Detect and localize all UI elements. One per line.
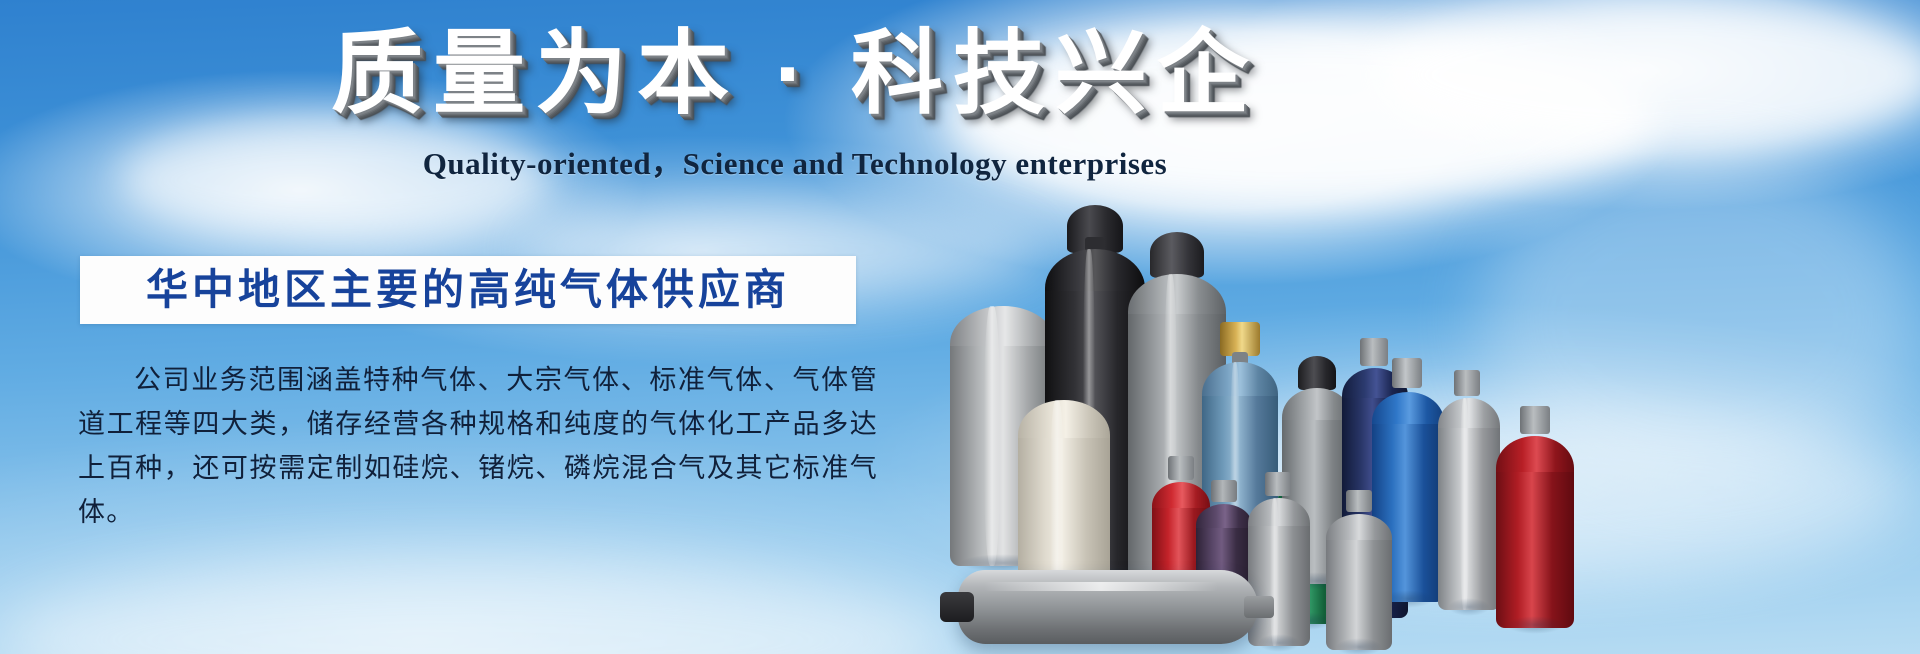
cylinder-valve: [940, 592, 974, 622]
slogan-text: 华中地区主要的高纯气体供应商: [80, 256, 856, 324]
gas-cylinder-group-image: [930, 140, 1920, 654]
banner-headline: 质量为本 · 科技兴企: [330, 22, 1260, 128]
cylinder-aluminium-front: [1248, 498, 1310, 646]
cylinder-valve: [1520, 406, 1550, 434]
cylinder-horizontal-front: [958, 570, 1258, 644]
cylinder-cap: [1298, 356, 1336, 390]
cylinder-valve: [1392, 358, 1422, 388]
cylinder-valve: [1454, 370, 1480, 396]
cylinder-valve: [1346, 490, 1372, 512]
cylinder-valve: [1211, 480, 1237, 502]
cylinder-red-large-right: [1496, 436, 1574, 628]
cylinder-valve: [1220, 322, 1260, 356]
cylinder-aluminium-front-two: [1326, 514, 1392, 650]
banner-body-paragraph: 公司业务范围涵盖特种气体、大宗气体、标准气体、气体管道工程等四大类，储存经营各种…: [78, 358, 878, 534]
cylinder-cap: [1150, 232, 1204, 278]
cylinder-neck: [1244, 596, 1274, 618]
cylinder-valve: [1265, 472, 1291, 496]
cloud-decoration: [0, 560, 950, 654]
cylinder-aluminium-right: [1438, 398, 1500, 610]
slogan-box: 华中地区主要的高纯气体供应商: [80, 256, 856, 324]
cylinder-valve: [1360, 338, 1388, 366]
cylinder-valve: [1168, 456, 1194, 480]
cloud-decoration: [1380, 0, 1920, 150]
hero-banner: 质量为本 · 科技兴企 Quality-oriented，Science and…: [0, 0, 1920, 654]
